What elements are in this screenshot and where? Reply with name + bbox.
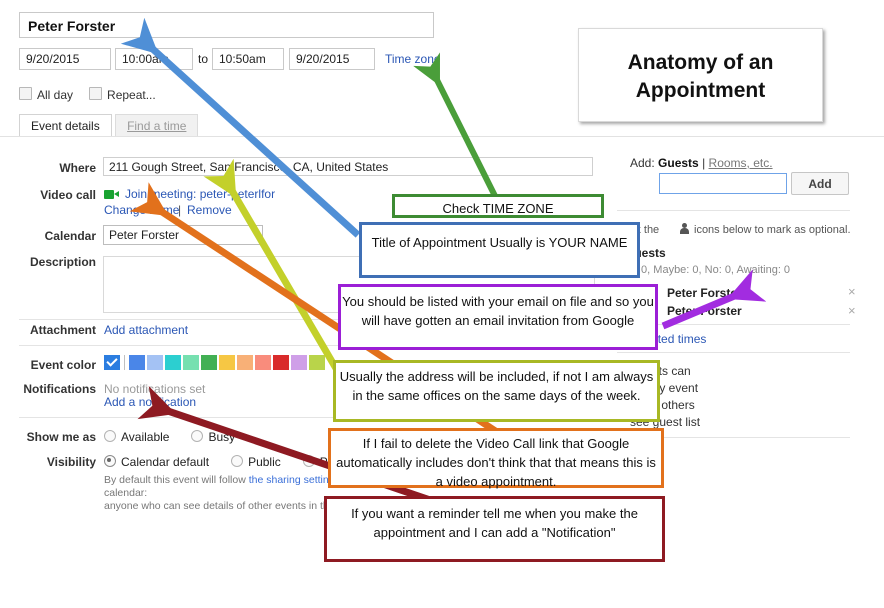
tab-event-details[interactable]: Event details <box>19 114 112 137</box>
optional-note-suffix: icons below to mark as optional. <box>694 224 851 236</box>
event-color-swatches <box>104 355 327 370</box>
person-icon <box>680 223 689 234</box>
show-me-as-label: Show me as <box>6 430 96 444</box>
to-label: to <box>198 52 208 66</box>
video-call-label: Video call <box>6 188 96 202</box>
color-swatch[interactable] <box>165 355 181 370</box>
sharing-settings-link[interactable]: the sharing settings <box>249 474 340 486</box>
add-guests-row: Add: Guests | Rooms, etc. <box>630 156 773 170</box>
add-notification-link[interactable]: Add a notification <box>104 395 196 409</box>
label-public: Public <box>248 455 281 469</box>
color-swatch[interactable] <box>291 355 307 370</box>
notifications-label: Notifications <box>6 382 96 396</box>
annotation-address: Usually the address will be included, if… <box>333 360 660 422</box>
swatch-divider <box>124 355 125 370</box>
event-tabs: Event details Find a time <box>19 114 198 137</box>
visibility-label: Visibility <box>6 455 96 469</box>
header-note-line2: Appointment <box>579 77 822 105</box>
no-notifications-text: No notifications set <box>104 382 205 396</box>
radio-available[interactable] <box>104 430 116 442</box>
calendar-label: Calendar <box>6 229 96 243</box>
guest-email-input[interactable] <box>659 173 787 194</box>
fineprint-text-a: By default this event will follow <box>104 474 249 486</box>
annotation-notification: If you want a reminder tell me when you … <box>324 496 665 562</box>
add-guest-button[interactable]: Add <box>791 172 849 195</box>
add-attachment-link[interactable]: Add attachment <box>104 323 188 337</box>
where-input[interactable]: 211 Gough Street, San Francisco, CA, Uni… <box>103 157 593 176</box>
add-rooms-tab[interactable]: Rooms, etc. <box>709 156 773 170</box>
where-label: Where <box>6 161 96 175</box>
remove-video-link[interactable]: Remove <box>187 203 232 217</box>
end-time-input[interactable]: 10:50am <box>212 48 284 70</box>
right-divider-1 <box>617 210 850 211</box>
guests-status: Yes: 0, Maybe: 0, No: 0, Awaiting: 0 <box>617 264 790 276</box>
event-color-label: Event color <box>6 358 96 372</box>
header-note-line1: Anatomy of an <box>579 49 822 77</box>
color-swatch[interactable] <box>219 355 235 370</box>
screenshot-root: Peter Forster 9/20/2015 10:00am to 10:50… <box>0 0 884 608</box>
all-day-label: All day <box>37 88 73 102</box>
color-swatch[interactable] <box>129 355 145 370</box>
attachment-label: Attachment <box>6 323 96 337</box>
close-icon[interactable]: × <box>848 284 856 299</box>
all-day-checkbox[interactable] <box>19 87 32 100</box>
color-swatch[interactable] <box>183 355 199 370</box>
annotation-email: You should be listed with your email on … <box>338 284 658 350</box>
label-available: Available <box>121 430 169 444</box>
video-camera-icon <box>104 190 119 199</box>
color-swatch[interactable] <box>201 355 217 370</box>
color-swatch[interactable] <box>237 355 253 370</box>
label-calendar-default: Calendar default <box>121 455 209 469</box>
color-swatch[interactable] <box>309 355 325 370</box>
color-swatch-selected[interactable] <box>104 355 120 370</box>
color-swatch[interactable] <box>255 355 271 370</box>
guest-list-item[interactable]: Peter Forster <box>667 286 742 300</box>
change-name-link[interactable]: Change name <box>104 203 179 217</box>
annotation-video-call: If I fail to delete the Video Call link … <box>328 428 664 488</box>
add-guests-tab[interactable]: Guests <box>658 156 699 170</box>
end-date-input[interactable]: 9/20/2015 <box>289 48 375 70</box>
guest-list-item[interactable]: Peter Forster <box>667 304 742 318</box>
radio-public[interactable] <box>231 455 243 467</box>
color-swatch[interactable] <box>273 355 289 370</box>
description-label: Description <box>6 255 96 269</box>
show-me-as-options: AvailableBusy <box>104 430 235 444</box>
chevron-down-icon[interactable] <box>254 233 260 237</box>
event-title-input[interactable]: Peter Forster <box>19 12 434 38</box>
allday-repeat-row: All dayRepeat... <box>19 87 172 102</box>
start-time-input[interactable]: 10:00am <box>115 48 193 70</box>
tab-find-a-time[interactable]: Find a time <box>115 114 198 137</box>
video-links-separator: | <box>178 203 181 217</box>
color-swatch[interactable] <box>147 355 163 370</box>
calendar-select[interactable]: Peter Forster <box>103 225 263 245</box>
tab-underline <box>0 136 884 137</box>
repeat-label: Repeat... <box>107 88 156 102</box>
close-icon[interactable]: × <box>848 303 856 318</box>
radio-busy[interactable] <box>191 430 203 442</box>
right-divider-3 <box>617 352 850 353</box>
radio-calendar-default[interactable] <box>104 455 116 467</box>
annotation-title: Title of Appointment Usually is YOUR NAM… <box>359 222 640 278</box>
all-day-text: All day <box>37 88 73 102</box>
radio-private[interactable] <box>303 455 315 467</box>
start-date-input[interactable]: 9/20/2015 <box>19 48 111 70</box>
add-prefix: Add: <box>630 156 655 170</box>
header-note: Anatomy of an Appointment <box>578 28 823 122</box>
repeat-checkbox[interactable] <box>89 87 102 100</box>
annotation-timezone: Check TIME ZONE <box>392 194 604 218</box>
label-busy: Busy <box>208 430 235 444</box>
visibility-options: Calendar defaultPublicPrivate <box>104 455 357 469</box>
add-separator: | <box>702 156 705 170</box>
time-zone-link[interactable]: Time zone <box>385 52 441 66</box>
join-meeting-link[interactable]: Join meeting: peter-peterlfor <box>125 187 275 201</box>
